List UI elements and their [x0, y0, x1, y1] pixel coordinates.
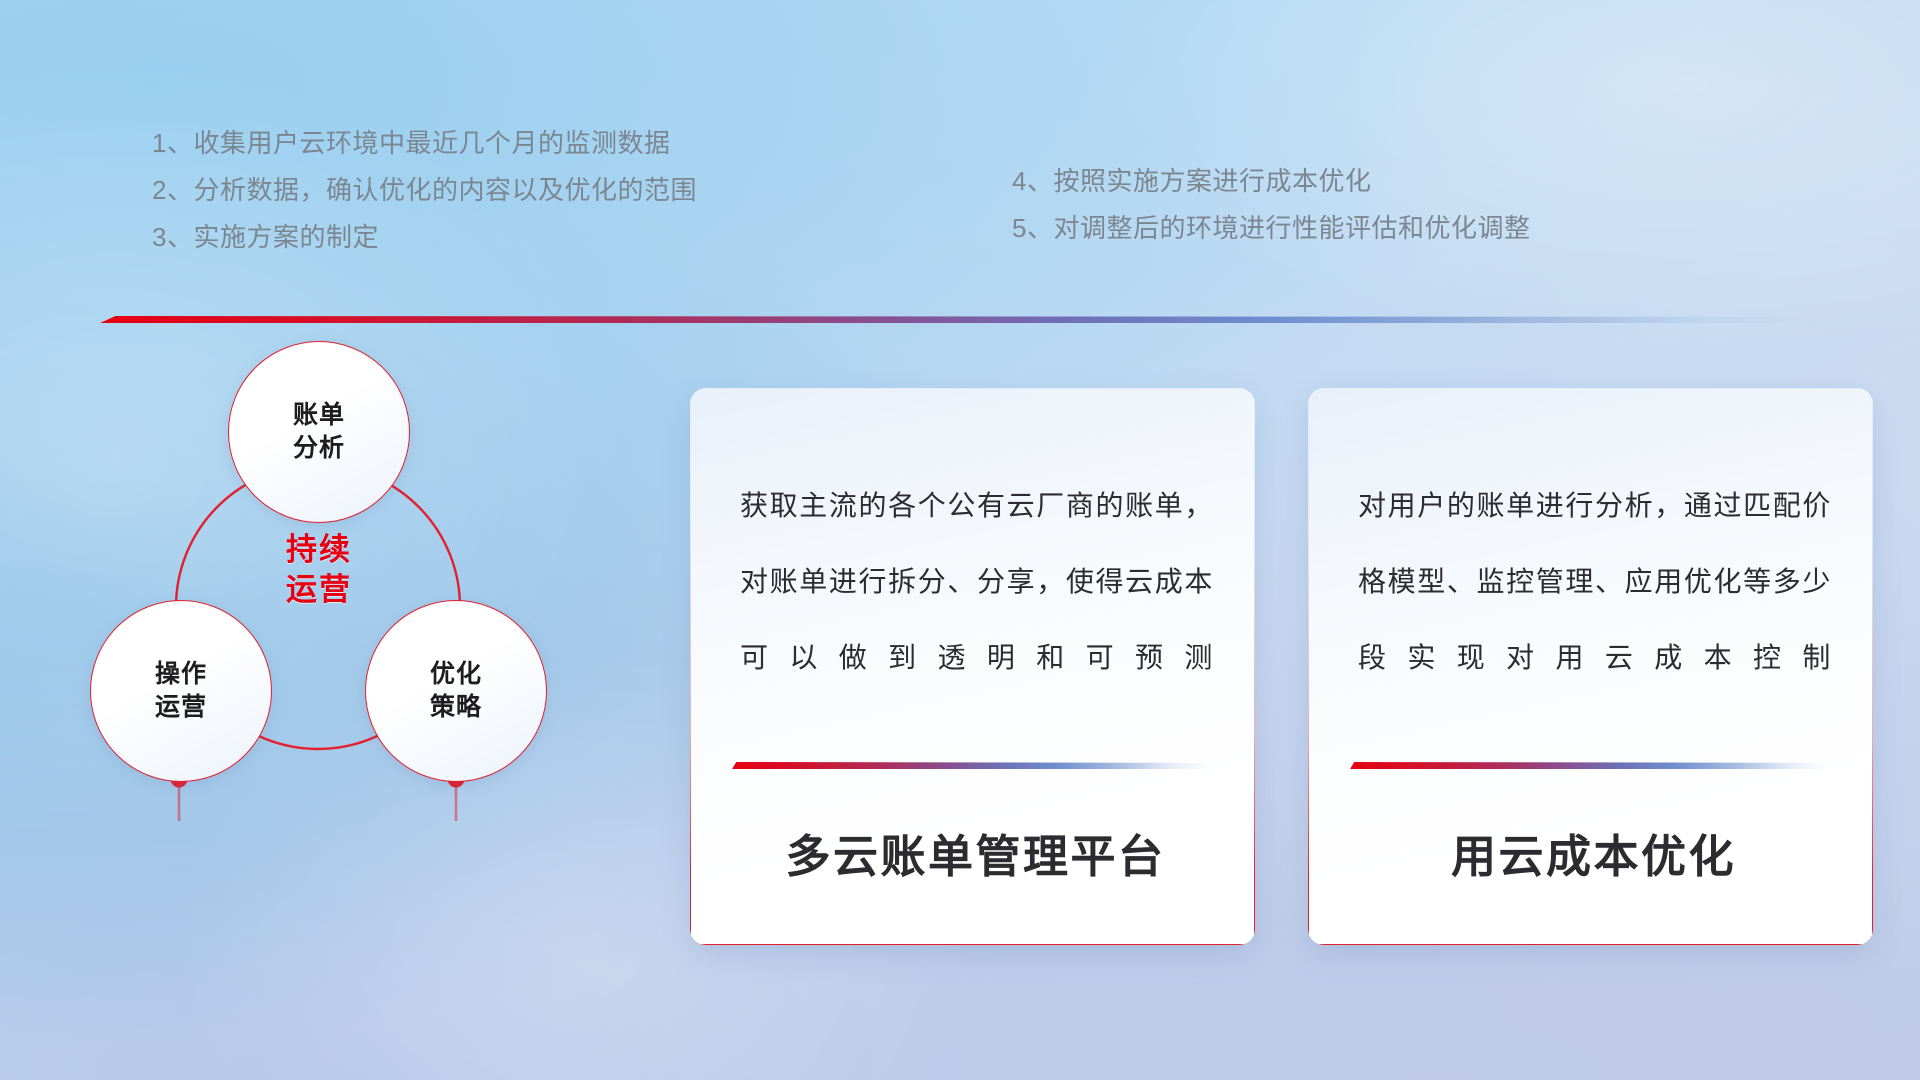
process-step-item: 2、分析数据，确认优化的内容以及优化的范围 — [152, 167, 697, 214]
process-step-item: 1、收集用户云环境中最近几个月的监测数据 — [152, 120, 697, 167]
card-title: 用云成本优化 — [1350, 820, 1837, 885]
venn-center-label: 持续 运营 — [228, 475, 410, 665]
section-divider — [100, 316, 1830, 323]
venn-lobe-label-line1: 账单 — [293, 399, 345, 432]
venn-lobe-label-line2: 运营 — [155, 691, 207, 724]
card-divider — [732, 762, 1211, 769]
venn-center-label-line2: 运营 — [286, 570, 352, 610]
process-step-item: 5、对调整后的环境进行性能评估和优化调整 — [1012, 205, 1530, 252]
venn-lobe-label-line1: 操作 — [155, 658, 207, 691]
process-step-item: 4、按照实施方案进行成本优化 — [1012, 158, 1530, 205]
feature-card-cloud-cost-optimization[interactable]: 对用户的账单进行分析，通过匹配价格模型、监控管理、应用优化等多少段实现对用云成本… — [1308, 388, 1873, 945]
card-body-text: 获取主流的各个公有云厂商的账单，对账单进行拆分、分享，使得云成本可以做到透明和可… — [740, 468, 1213, 696]
venn-center-label-line1: 持续 — [286, 530, 352, 570]
feature-card-multi-cloud-billing[interactable]: 获取主流的各个公有云厂商的账单，对账单进行拆分、分享，使得云成本可以做到透明和可… — [690, 388, 1255, 945]
card-divider — [1350, 762, 1829, 769]
venn-lobe-label-line2: 分析 — [293, 432, 345, 465]
process-step-item: 3、实施方案的制定 — [152, 214, 697, 261]
venn-lobe-label-line1: 优化 — [430, 658, 482, 691]
process-steps-left-column: 1、收集用户云环境中最近几个月的监测数据 2、分析数据，确认优化的内容以及优化的… — [152, 120, 697, 261]
continuous-operations-diagram: 账单 分析 操作 运营 优化 策略 持续 运营 — [100, 355, 620, 935]
process-steps-right-column: 4、按照实施方案进行成本优化 5、对调整后的环境进行性能评估和优化调整 — [1012, 158, 1530, 252]
card-body-text: 对用户的账单进行分析，通过匹配价格模型、监控管理、应用优化等多少段实现对用云成本… — [1358, 468, 1831, 696]
card-title: 多云账单管理平台 — [732, 820, 1219, 885]
venn-lobe-label-line2: 策略 — [430, 691, 482, 724]
